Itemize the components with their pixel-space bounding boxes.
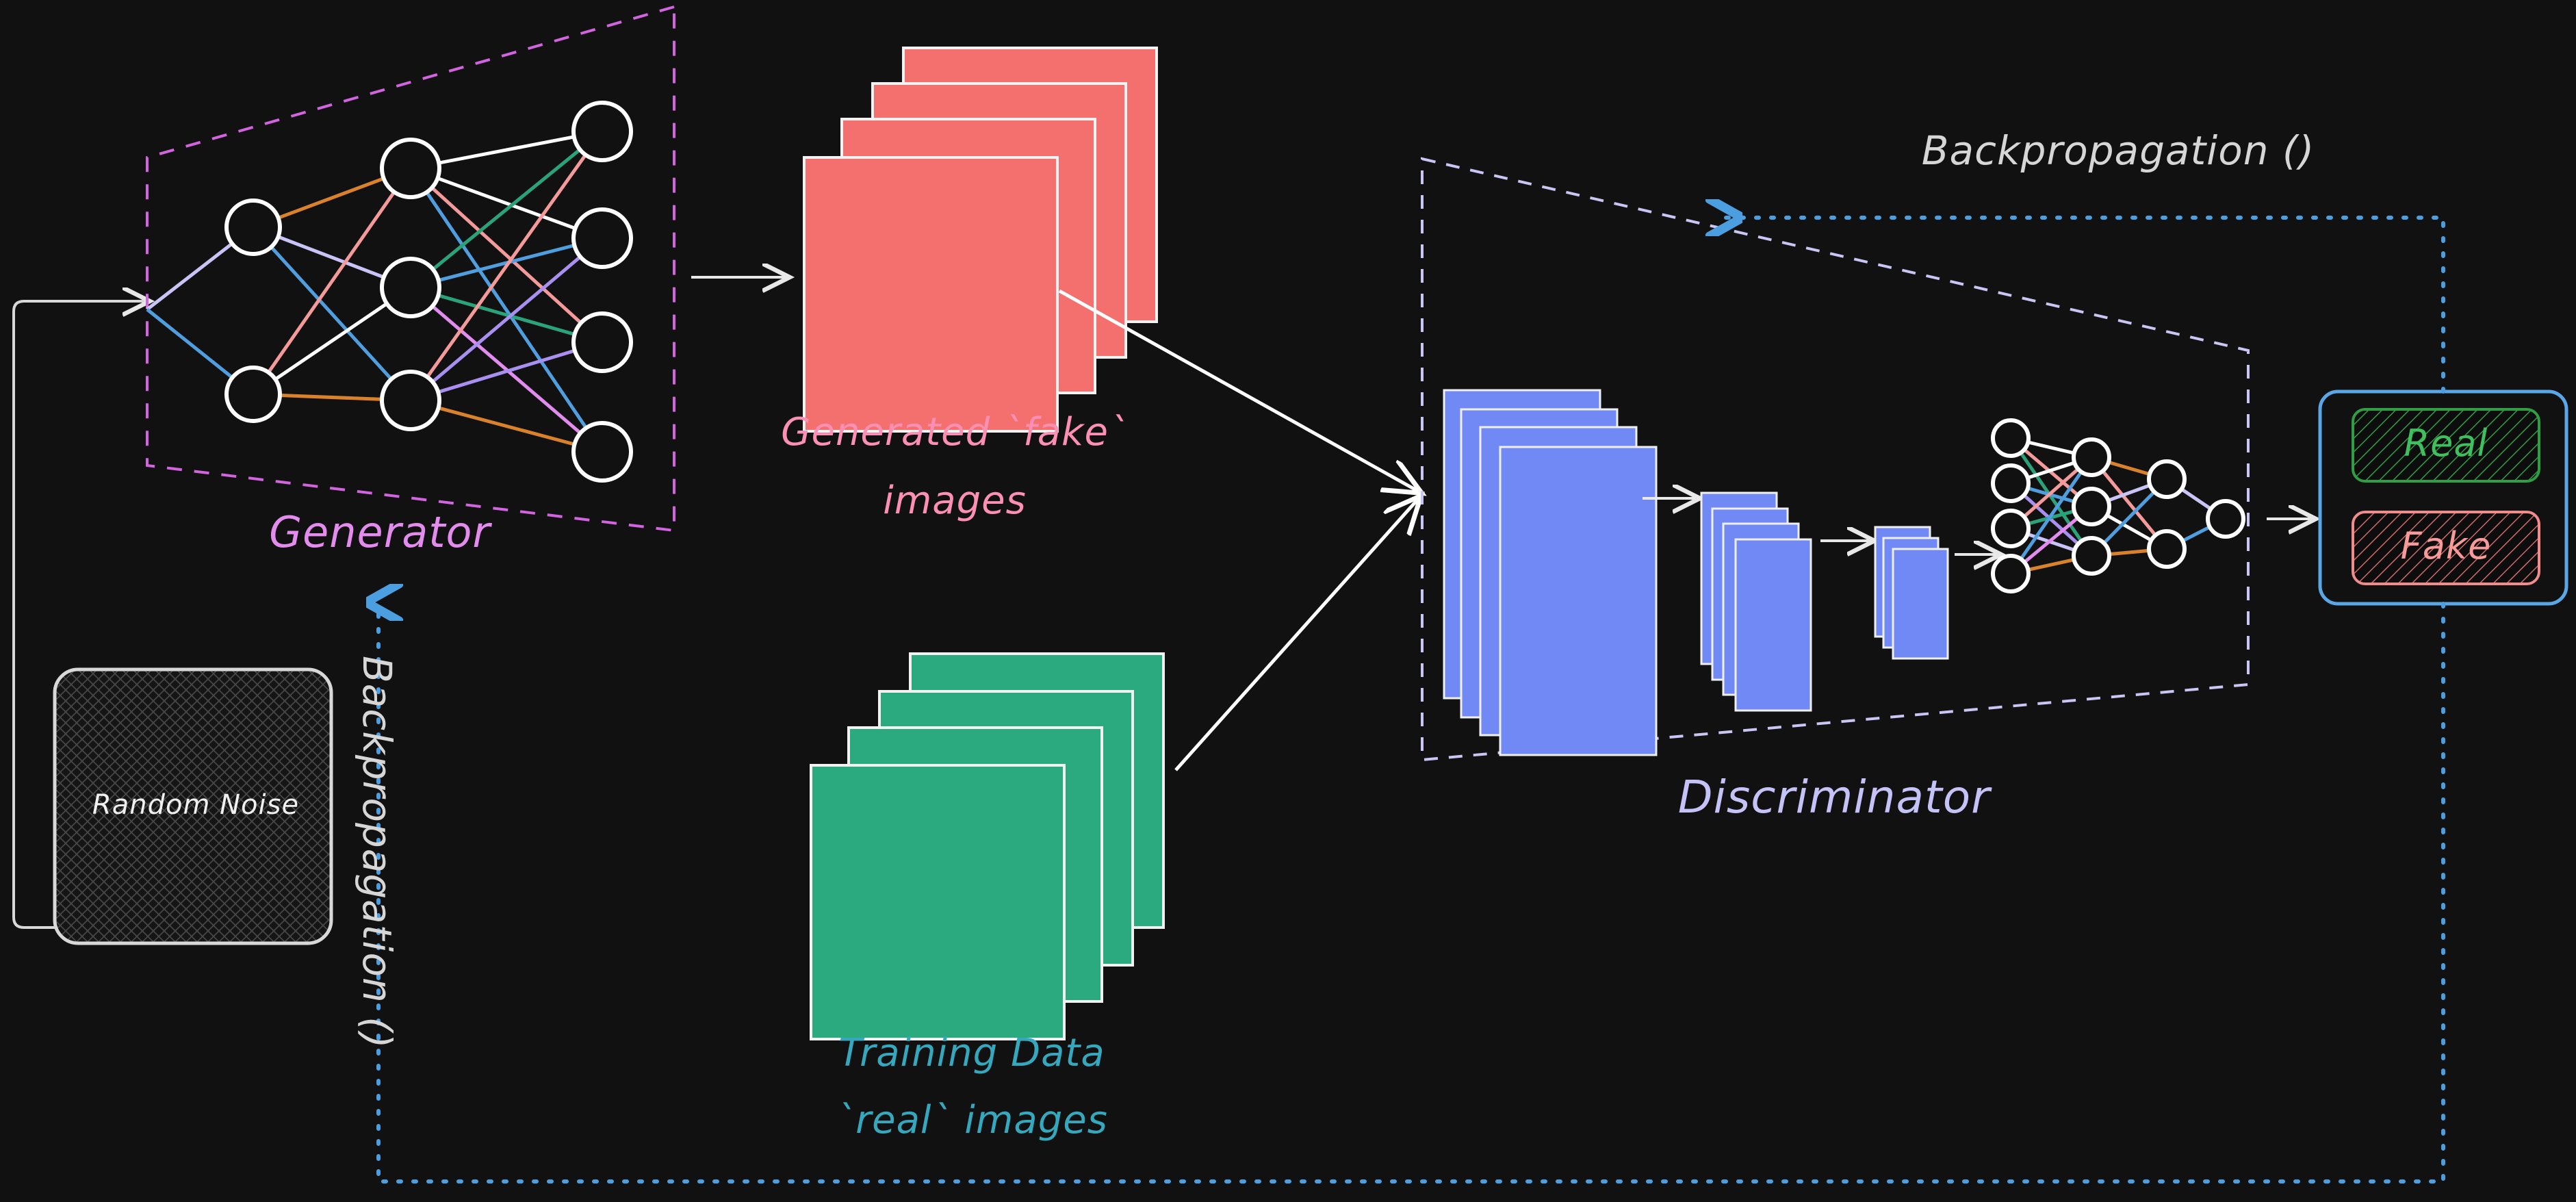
neuron	[1993, 556, 2028, 591]
neuron	[574, 423, 631, 481]
neuron	[2149, 461, 2185, 497]
backprop-discriminator-label: Backpropagation ()	[1922, 127, 2315, 175]
training-data-label-line2: `real` images	[836, 1097, 1108, 1144]
backprop-generator-label: Backpropagation ()	[352, 656, 401, 1049]
diagram-canvas: Generator Generated `fake` images Traini…	[0, 0, 2576, 1202]
fake-images-label-line1: Generated `fake`	[781, 409, 1129, 456]
neuron	[2074, 439, 2109, 475]
generator-label: Generator	[269, 507, 491, 559]
neuron	[1993, 465, 2028, 501]
fake-image-stack	[804, 48, 1157, 431]
neuron	[1993, 420, 2028, 456]
backprop-discriminator-path	[1718, 218, 2443, 392]
feature-map-stack-1	[1444, 390, 1656, 755]
neuron	[227, 201, 280, 254]
neuron	[1993, 511, 2028, 546]
generator-edges	[147, 131, 602, 452]
feature-map-stack-2	[1701, 493, 1811, 711]
fake-images-label-line2: images	[883, 478, 1027, 524]
real-image-stack	[811, 654, 1163, 1039]
backprop-generator-path	[378, 602, 2443, 1181]
neuron	[574, 103, 631, 160]
neuron	[2074, 489, 2109, 524]
neuron	[382, 372, 439, 429]
neuron	[2149, 531, 2185, 567]
neuron	[382, 140, 439, 197]
neuron	[574, 314, 631, 371]
discriminator-label: Discriminator	[1678, 770, 1991, 826]
neuron	[227, 368, 280, 421]
feature-map-stack-3	[1875, 527, 1948, 658]
real-badge-label: Real	[2404, 421, 2488, 466]
discriminator-edges	[2011, 438, 2226, 574]
training-data-label-line1: Training Data	[838, 1030, 1105, 1077]
neuron	[2208, 501, 2243, 537]
random-noise-label: Random Noise	[92, 789, 299, 822]
fake-badge-label: Fake	[2401, 524, 2492, 569]
neuron	[2074, 538, 2109, 574]
neuron	[574, 209, 631, 267]
neuron	[382, 259, 439, 316]
